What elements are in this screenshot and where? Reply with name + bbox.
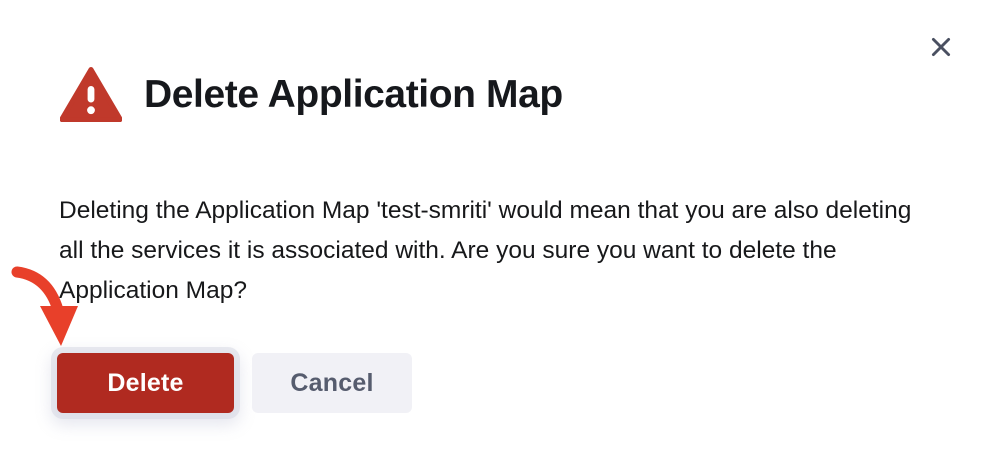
dialog-title: Delete Application Map — [144, 75, 563, 114]
close-x-icon — [930, 36, 952, 58]
warning-triangle-icon — [60, 66, 122, 122]
delete-application-map-dialog: Delete Application Map Deleting the Appl… — [0, 0, 984, 475]
cancel-button[interactable]: Cancel — [252, 353, 412, 413]
dialog-header: Delete Application Map — [60, 66, 563, 122]
dialog-message: Deleting the Application Map 'test-smrit… — [59, 191, 939, 311]
close-dialog-button[interactable] — [924, 30, 958, 64]
delete-button[interactable]: Delete — [57, 353, 234, 413]
dialog-actions: Delete Cancel — [57, 353, 412, 413]
